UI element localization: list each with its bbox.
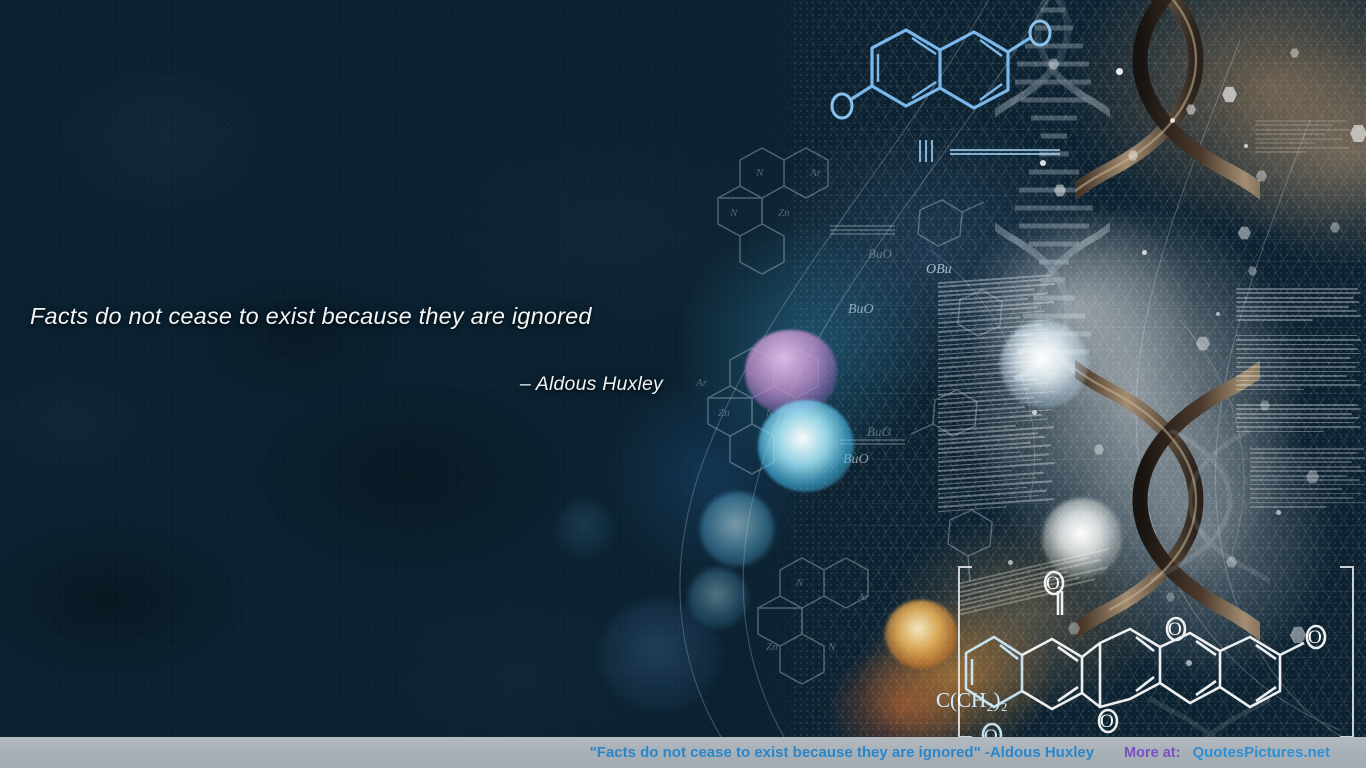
buo-label-3: BuO bbox=[848, 302, 874, 318]
micro-text-texture bbox=[1255, 120, 1355, 166]
oxygen-label: O bbox=[1046, 573, 1060, 594]
sparkle bbox=[1032, 410, 1037, 415]
nitrogen-label: N bbox=[755, 167, 764, 179]
bokeh-orb-cyan-2 bbox=[700, 492, 774, 566]
sparkle bbox=[1170, 118, 1175, 123]
frame-bracket-left bbox=[958, 566, 972, 738]
oxygen-label: O bbox=[1168, 619, 1182, 640]
sparkle bbox=[1276, 510, 1281, 515]
oxygen-label: O bbox=[1100, 711, 1114, 732]
bokeh-orb-teal-small bbox=[555, 500, 615, 558]
sparkle bbox=[1040, 160, 1046, 166]
wallpaper-canvas: N N Zn Ar N Zn N Ar bbox=[0, 0, 1366, 768]
butoxy-label: BuO bbox=[868, 246, 892, 261]
naphthoquinone-structure-icon bbox=[820, 10, 1100, 210]
hex-particle bbox=[1330, 222, 1340, 233]
obu-label: OBu bbox=[926, 262, 952, 278]
bokeh-orb-white-2 bbox=[1042, 498, 1122, 578]
sparkle bbox=[1216, 312, 1220, 316]
bokeh-orb-orange bbox=[885, 600, 957, 668]
bokeh-orb-white-1 bbox=[1000, 320, 1088, 408]
bar-quote-attribution: "Facts do not cease to exist because the… bbox=[590, 744, 1094, 761]
nitrogen-label: N bbox=[795, 577, 804, 589]
oxygen-label: O bbox=[1308, 627, 1322, 648]
bottom-attribution-bar: "Facts do not cease to exist because the… bbox=[0, 737, 1366, 768]
aryl-label: Ar bbox=[695, 377, 708, 389]
nitrogen-label: N bbox=[827, 641, 836, 653]
butoxy-label: BuO bbox=[867, 424, 891, 439]
anthraquinone-structure-icon: O O O O O C(CH₂)₂ bbox=[940, 545, 1366, 768]
sparkle bbox=[1244, 144, 1248, 148]
quote-text: Facts do not cease to exist because they… bbox=[30, 303, 680, 330]
sparkle bbox=[1186, 660, 1192, 666]
nitrogen-label: N bbox=[729, 207, 738, 219]
bokeh-orb-cyan-bright bbox=[758, 400, 854, 492]
zinc-label: Zn bbox=[718, 407, 730, 419]
quote-author: – Aldous Huxley bbox=[30, 373, 663, 396]
sparkle bbox=[1142, 250, 1147, 255]
bokeh-orb-cyan-3 bbox=[688, 568, 748, 628]
sparkle bbox=[1008, 560, 1013, 565]
aryl-label: Ar bbox=[857, 591, 870, 603]
zinc-label: Zn bbox=[778, 207, 790, 219]
dna-paragraph-texture-3 bbox=[1250, 448, 1366, 558]
bar-more-label: More at: bbox=[1124, 745, 1180, 761]
zinc-label: Zn bbox=[766, 641, 778, 653]
frame-bracket-right bbox=[1340, 566, 1354, 738]
bar-site-link[interactable]: QuotesPictures.net bbox=[1192, 744, 1330, 761]
sparkle bbox=[1116, 68, 1123, 75]
hex-particle bbox=[1290, 48, 1299, 58]
